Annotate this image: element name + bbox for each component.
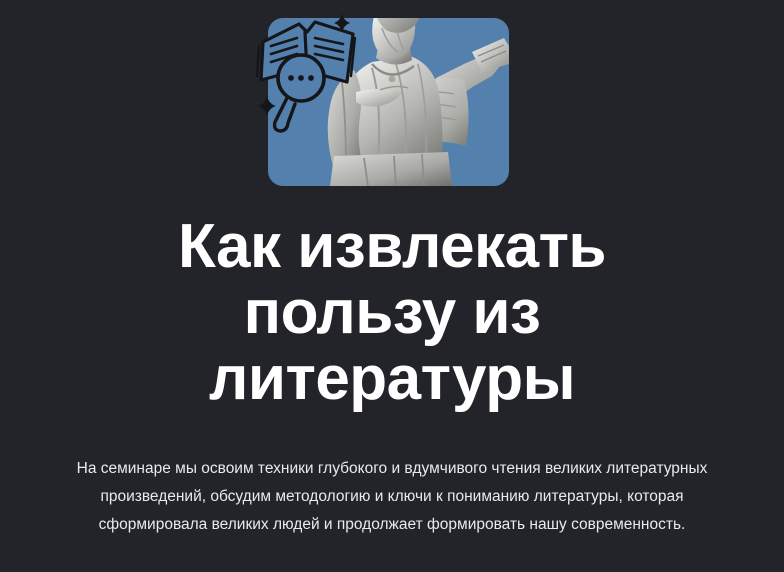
page-title-line-1: Как извлекать: [0, 214, 784, 280]
landing-hero-page: Как извлекать пользу из литературы На се…: [0, 0, 784, 572]
hero-section: [0, 0, 784, 200]
page-title-line-3: литературы: [0, 346, 784, 412]
image-card: [268, 18, 509, 186]
page-title: Как извлекать пользу из литературы: [0, 214, 784, 412]
page-title-line-2: пользу из: [0, 280, 784, 346]
page-description: На семинаре мы освоим техники глубокого …: [62, 455, 722, 539]
